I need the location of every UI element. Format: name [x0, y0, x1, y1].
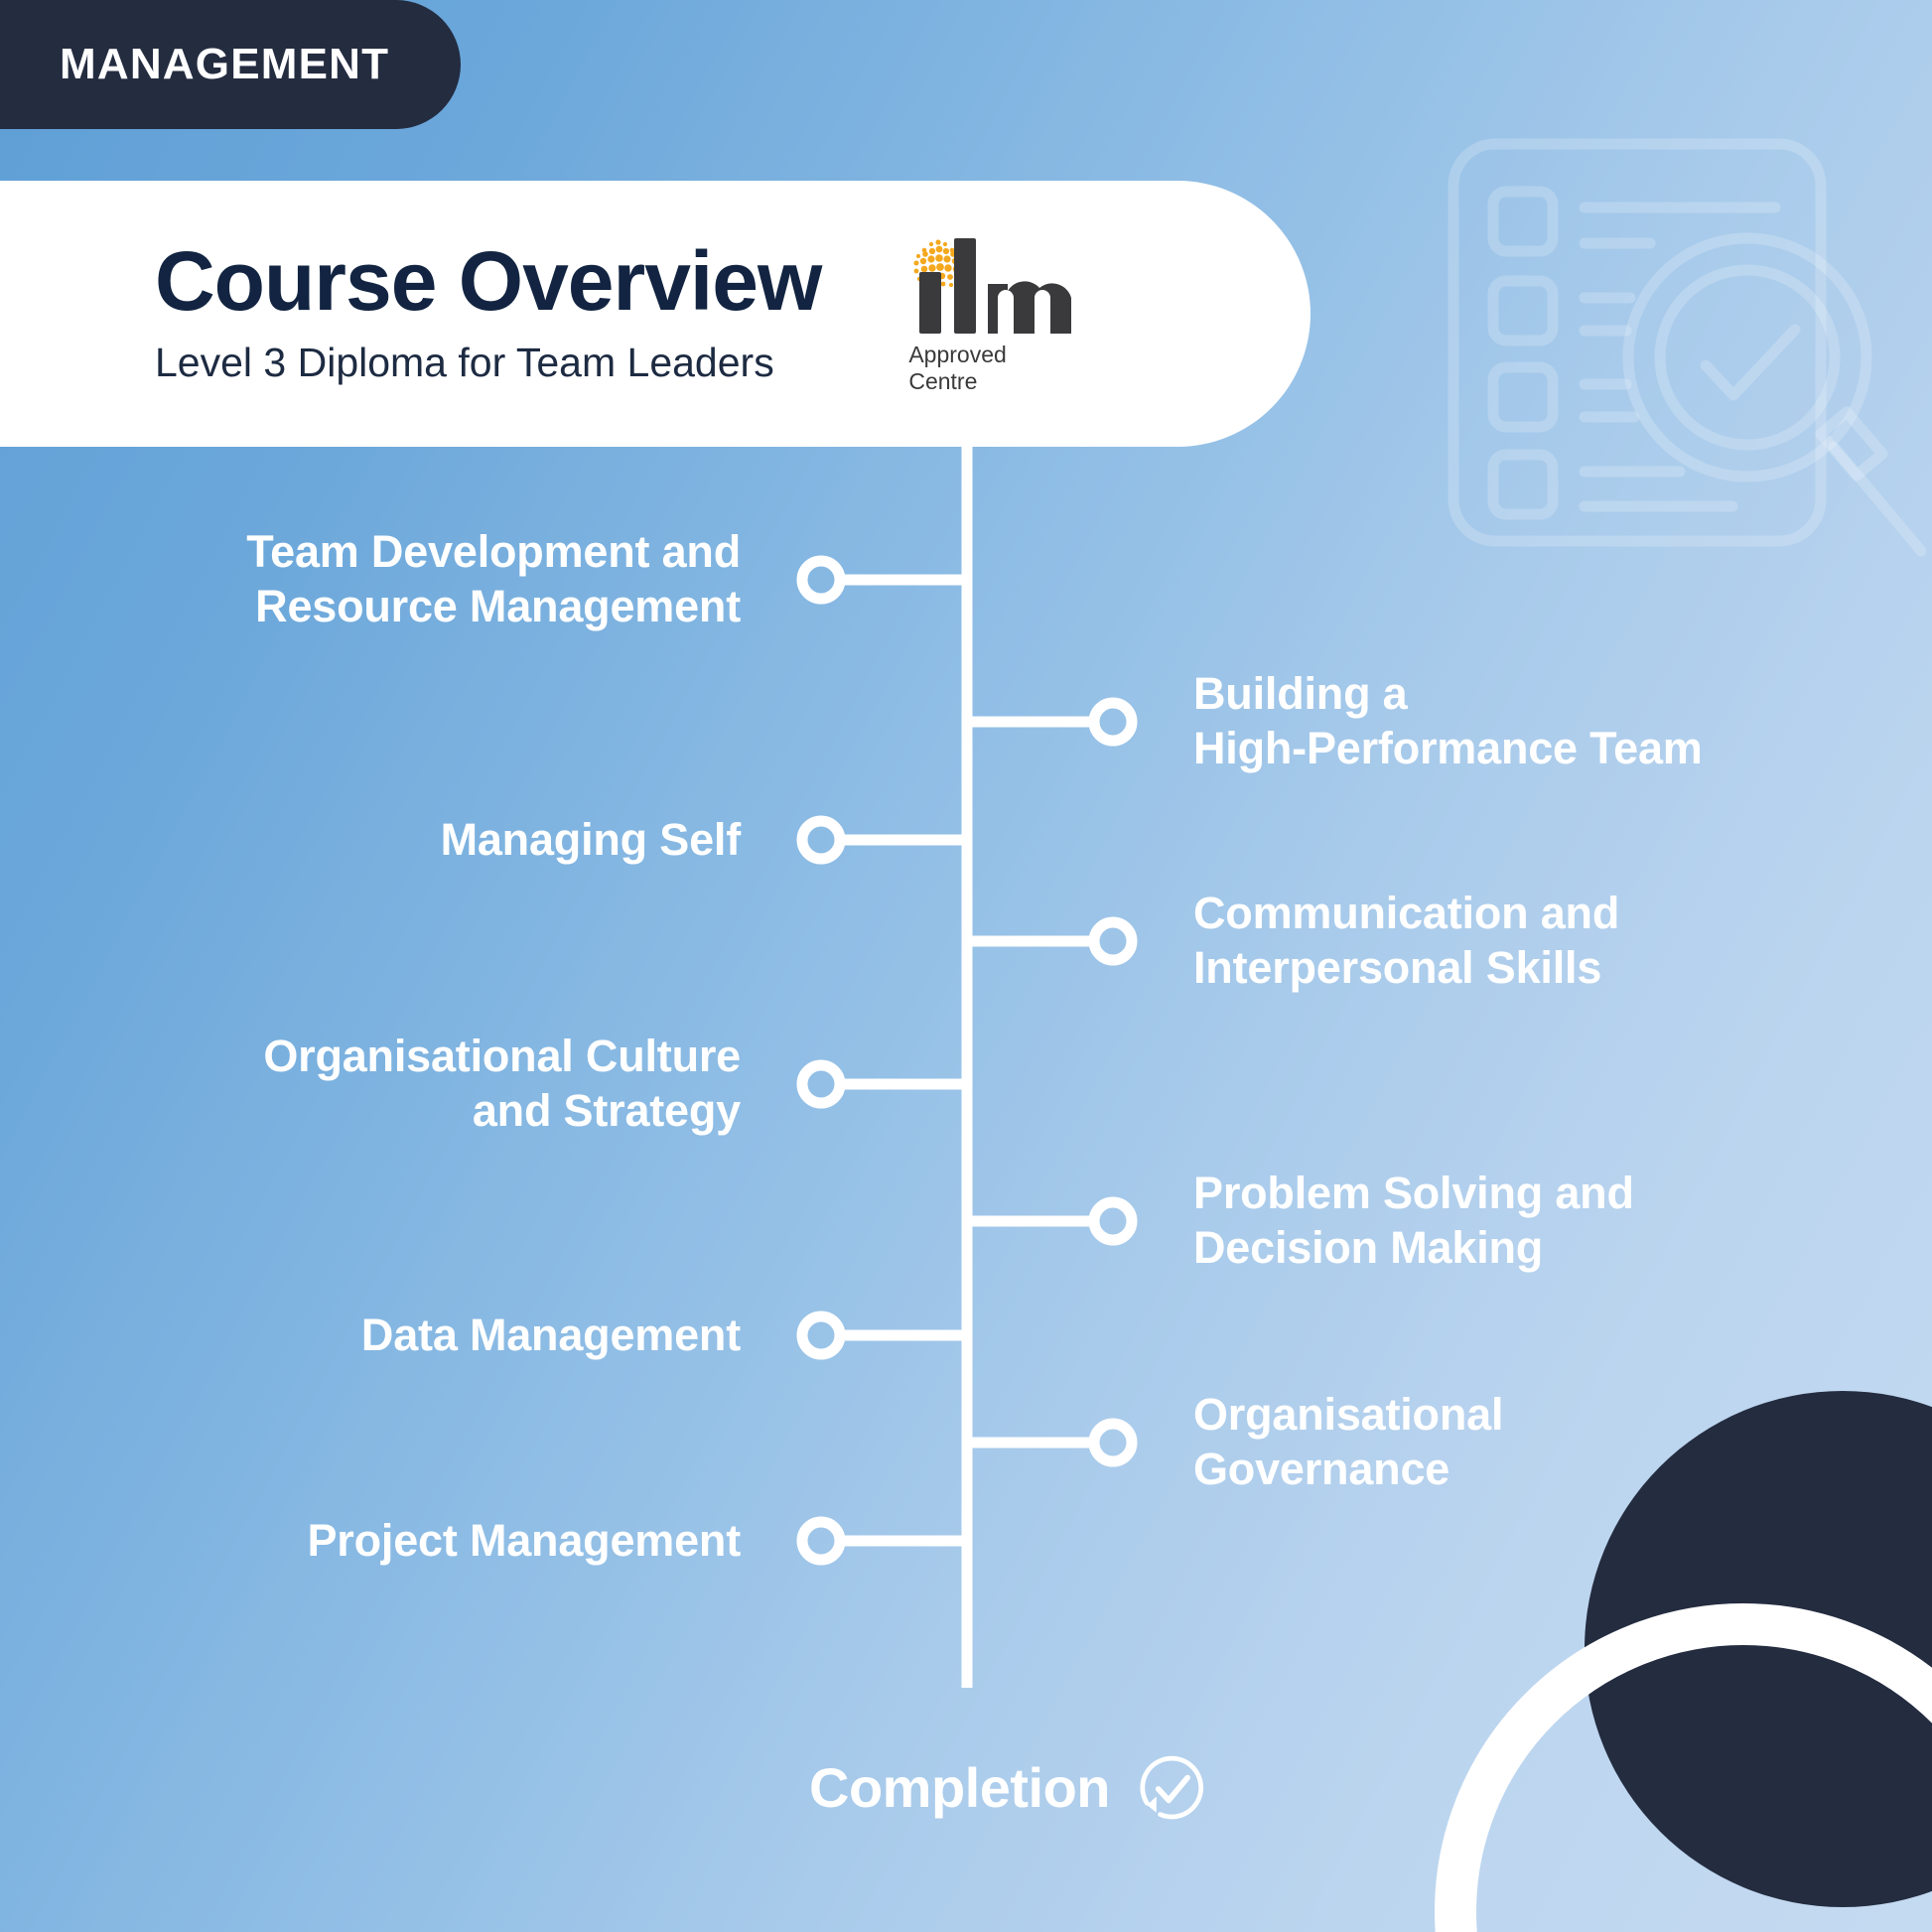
header-panel: Course Overview Level 3 Diploma for Team…: [0, 181, 1311, 447]
timeline-node-marker-8[interactable]: [1094, 1424, 1132, 1461]
category-badge: MANAGEMENT: [0, 0, 461, 129]
timeline-node-label-7: Data Management: [79, 1309, 741, 1363]
node-label-line: Interpersonal Skills: [1193, 941, 1872, 996]
page-title: Course Overview: [155, 239, 821, 323]
timeline-node-label-4: Communication andInterpersonal Skills: [1193, 887, 1872, 996]
timeline-node-label-9: Project Management: [79, 1514, 741, 1569]
timeline-node-label-3: Managing Self: [79, 813, 741, 868]
node-label-line: Managing Self: [79, 813, 741, 868]
node-label-line: Building a: [1193, 667, 1872, 722]
timeline-node-marker-1[interactable]: [802, 561, 840, 599]
timeline-node-label-8: OrganisationalGovernance: [1193, 1388, 1872, 1497]
timeline-node-label-5: Organisational Cultureand Strategy: [79, 1030, 741, 1139]
ilm-caption-line-1: Approved: [908, 342, 1006, 367]
timeline-node-marker-2[interactable]: [1094, 703, 1132, 741]
timeline-node-label-2: Building aHigh-Performance Team: [1193, 667, 1872, 776]
node-label-line: Decision Making: [1193, 1221, 1872, 1276]
timeline-node-marker-7[interactable]: [802, 1316, 840, 1354]
node-label-line: Resource Management: [79, 580, 741, 634]
completion-block: Completion: [0, 1750, 1209, 1826]
category-badge-label: MANAGEMENT: [60, 43, 389, 86]
node-label-line: Data Management: [79, 1309, 741, 1363]
node-label-line: Team Development and: [79, 525, 741, 580]
timeline-node-label-6: Problem Solving andDecision Making: [1193, 1167, 1872, 1276]
timeline-node-marker-3[interactable]: [802, 821, 840, 859]
timeline-node-label-1: Team Development andResource Management: [79, 525, 741, 634]
node-label-line: Communication and: [1193, 887, 1872, 941]
completion-label: Completion: [809, 1760, 1110, 1816]
checklist-magnifier-watermark-icon: [1420, 124, 1932, 571]
node-label-line: Problem Solving and: [1193, 1167, 1872, 1221]
node-label-line: Project Management: [79, 1514, 741, 1569]
node-label-line: High-Performance Team: [1193, 722, 1872, 776]
circular-arrow-check-icon: [1134, 1750, 1209, 1826]
timeline-node-marker-9[interactable]: [802, 1522, 840, 1560]
node-label-line: Governance: [1193, 1443, 1872, 1497]
ilm-sunburst-icon: [904, 232, 1071, 336]
timeline-spine: [962, 447, 973, 1688]
header-text-block: Course Overview Level 3 Diploma for Team…: [155, 239, 821, 387]
node-label-line: and Strategy: [79, 1084, 741, 1139]
timeline-node-marker-5[interactable]: [802, 1065, 840, 1103]
ilm-logo-caption: Approved Centre: [908, 342, 1006, 395]
node-label-line: Organisational: [1193, 1388, 1872, 1443]
timeline-node-marker-6[interactable]: [1094, 1202, 1132, 1240]
page-subtitle: Level 3 Diploma for Team Leaders: [155, 339, 821, 387]
ilm-logo: Approved Centre: [904, 232, 1083, 395]
infographic-canvas: MANAGEMENT Course Overview Level 3 Diplo…: [0, 0, 1932, 1932]
node-label-line: Organisational Culture: [79, 1030, 741, 1084]
ilm-caption-line-2: Centre: [908, 368, 977, 394]
timeline-node-marker-4[interactable]: [1094, 922, 1132, 960]
